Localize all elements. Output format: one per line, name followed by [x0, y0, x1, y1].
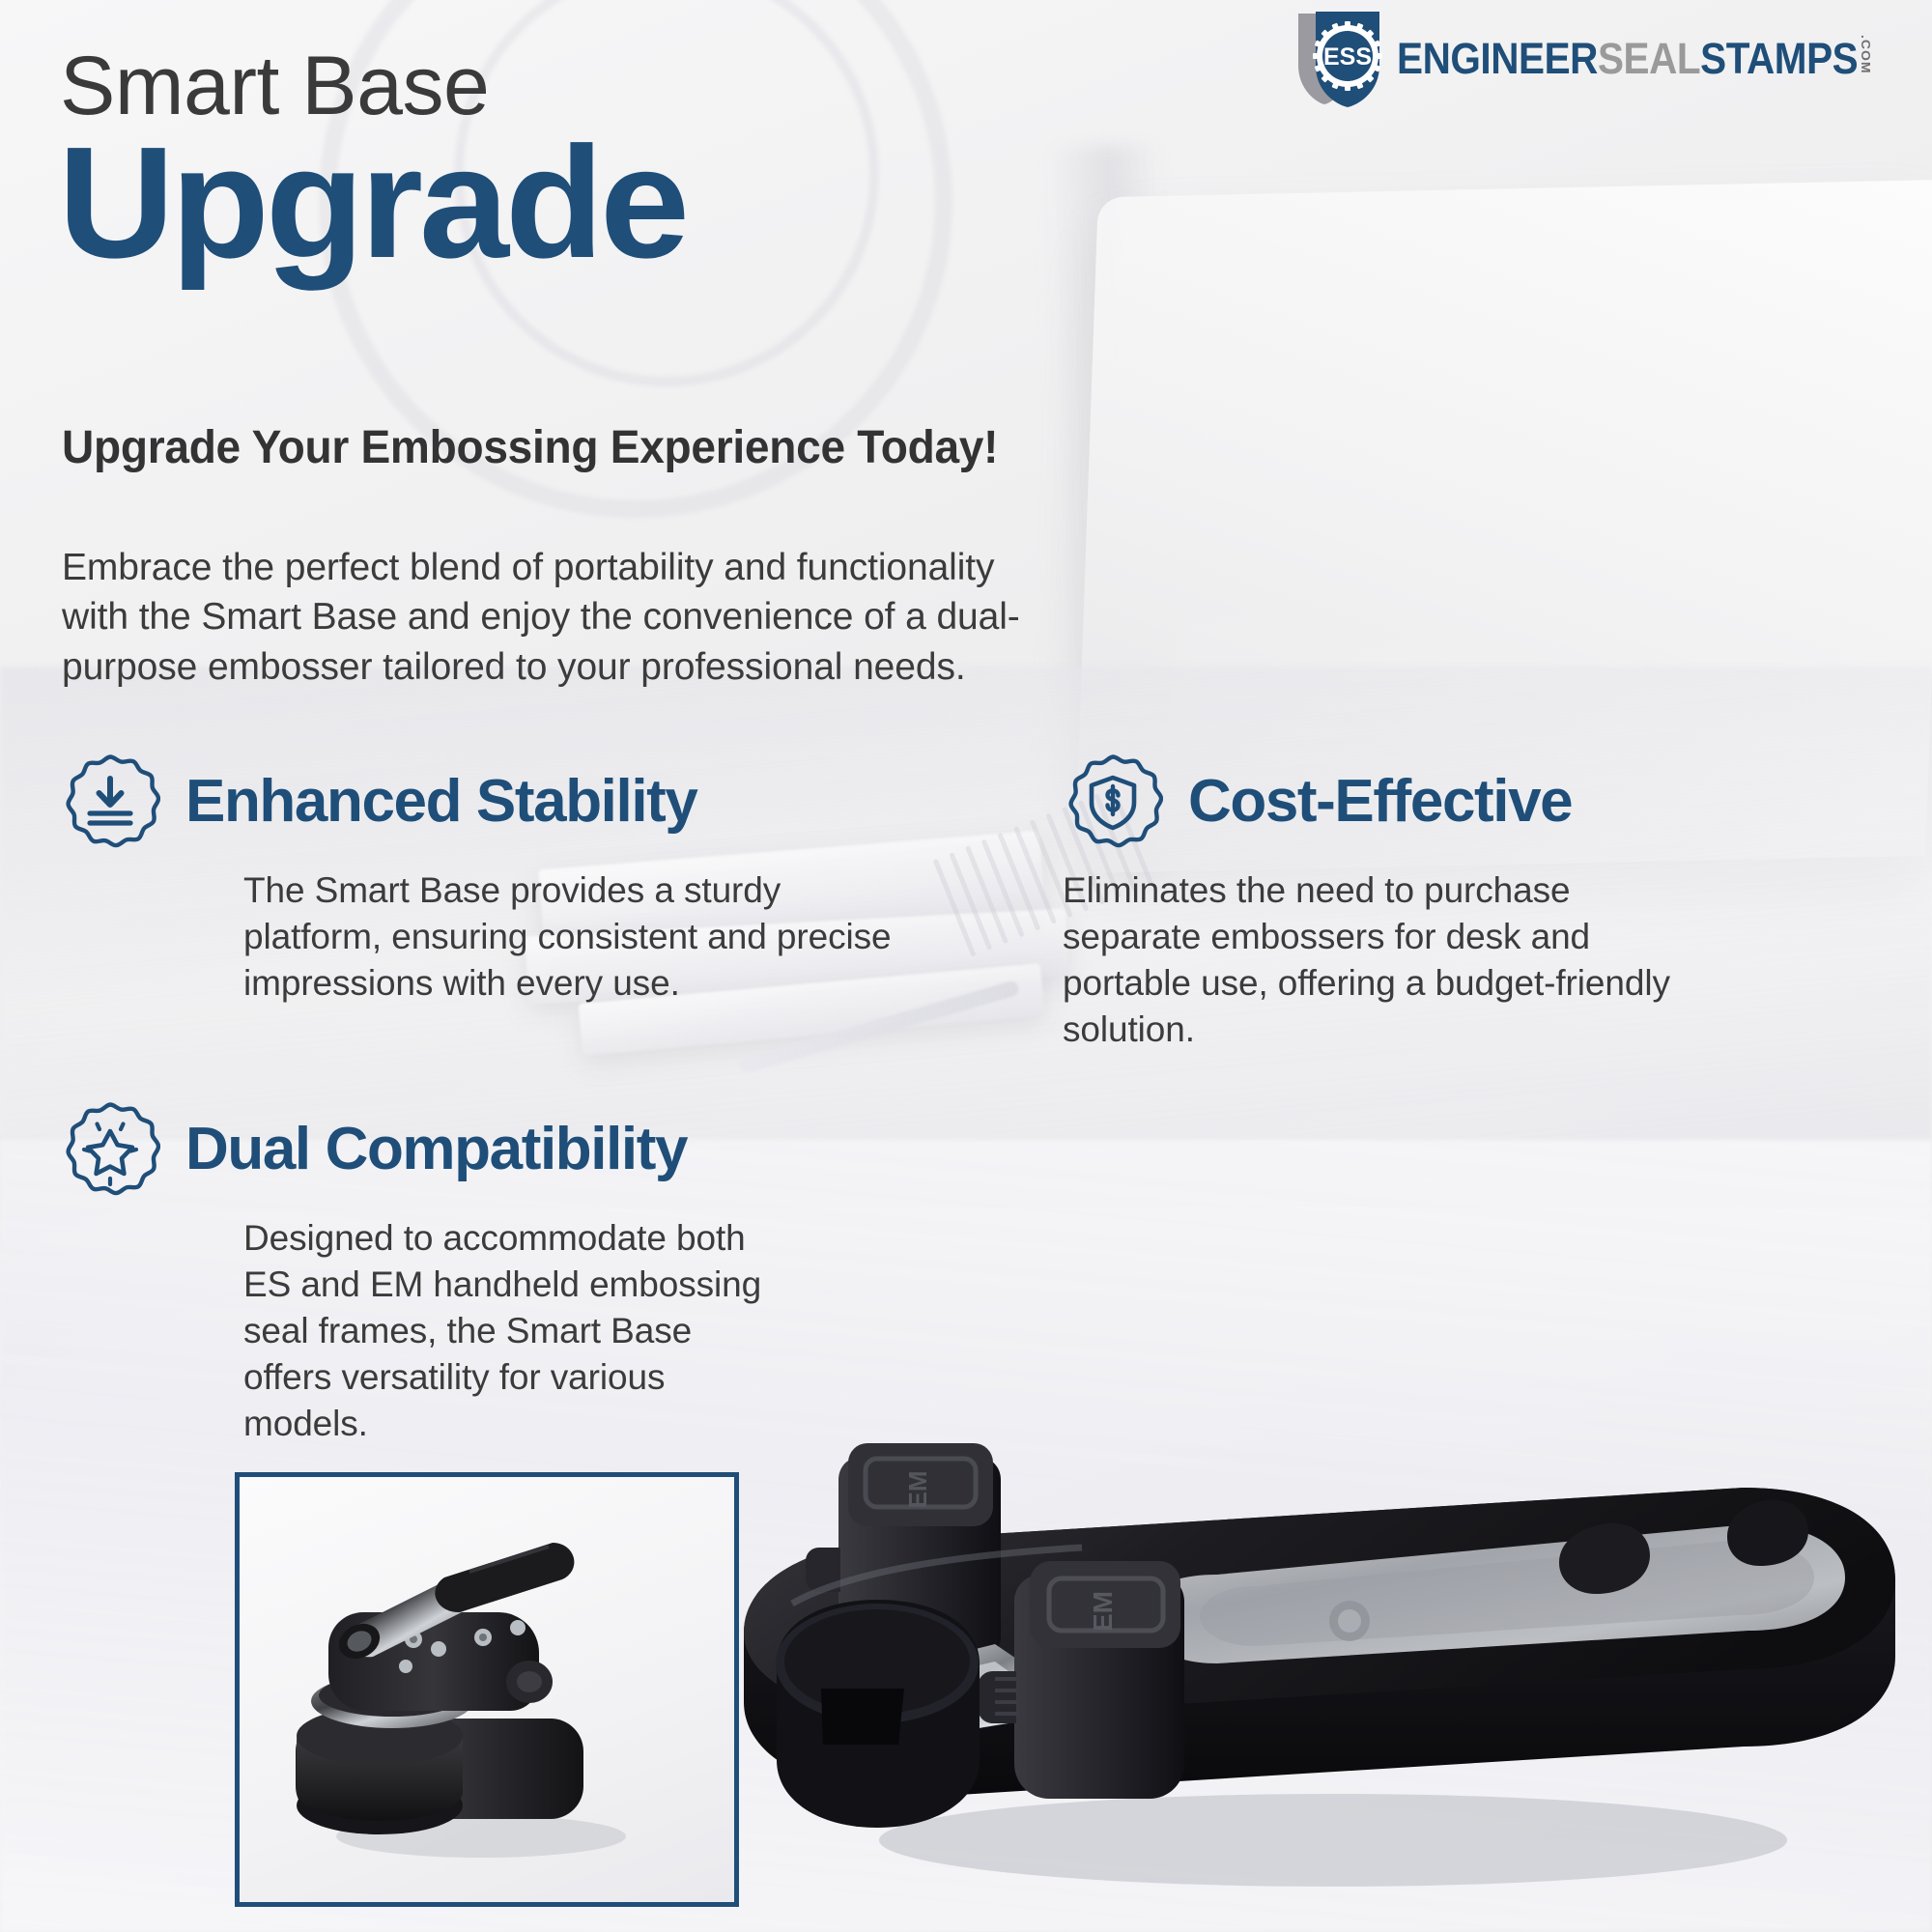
- smart-base-product-photo: EM EM: [676, 1285, 1932, 1903]
- page-subheading: Upgrade Your Embossing Experience Today!: [62, 423, 998, 474]
- feature-header: Enhanced Stability: [60, 752, 910, 852]
- feature-header: Dual Compatibility: [60, 1099, 910, 1200]
- infographic-page: ESS ENGINEERSEALSTAMPS.COM Smart Base Up…: [0, 0, 1932, 1932]
- handheld-embosser-on-smart-base-photo: [235, 1472, 739, 1907]
- wordmark-tld: .COM: [1860, 35, 1872, 74]
- brand-logo[interactable]: ESS ENGINEERSEALSTAMPS.COM: [1294, 8, 1924, 108]
- clip-label-front: EM: [1088, 1591, 1118, 1632]
- feature-title: Enhanced Stability: [185, 772, 696, 832]
- brand-wordmark: ENGINEERSEALSTAMPS.COM: [1397, 37, 1872, 80]
- feature-cost-effective: Cost-Effective Eliminates the need to pu…: [1063, 752, 1893, 1053]
- ess-shield-gear-icon: ESS: [1294, 8, 1383, 108]
- wordmark-seal: SEAL: [1598, 34, 1700, 83]
- feature-title: Cost-Effective: [1188, 772, 1572, 832]
- feature-enhanced-stability: Enhanced Stability The Smart Base provid…: [60, 752, 910, 1007]
- feature-body: The Smart Base provides a sturdy platfor…: [243, 867, 920, 1007]
- press-down-badge-icon: [60, 752, 160, 852]
- clip-label-rear: EM: [903, 1471, 932, 1509]
- feature-title: Dual Compatibility: [185, 1120, 687, 1179]
- ess-badge-label: ESS: [1323, 43, 1372, 71]
- page-intro-paragraph: Embrace the perfect blend of portability…: [62, 543, 1066, 692]
- wordmark-engineer: ENGINEER: [1397, 34, 1598, 83]
- shield-dollar-badge-icon: [1063, 752, 1163, 852]
- feature-body: Eliminates the need to purchase separate…: [1063, 867, 1700, 1053]
- wordmark-stamps: STAMPS: [1700, 34, 1858, 83]
- page-title: Upgrade: [58, 124, 686, 282]
- feature-header: Cost-Effective: [1063, 752, 1893, 852]
- sparkle-star-badge-icon: [60, 1099, 160, 1200]
